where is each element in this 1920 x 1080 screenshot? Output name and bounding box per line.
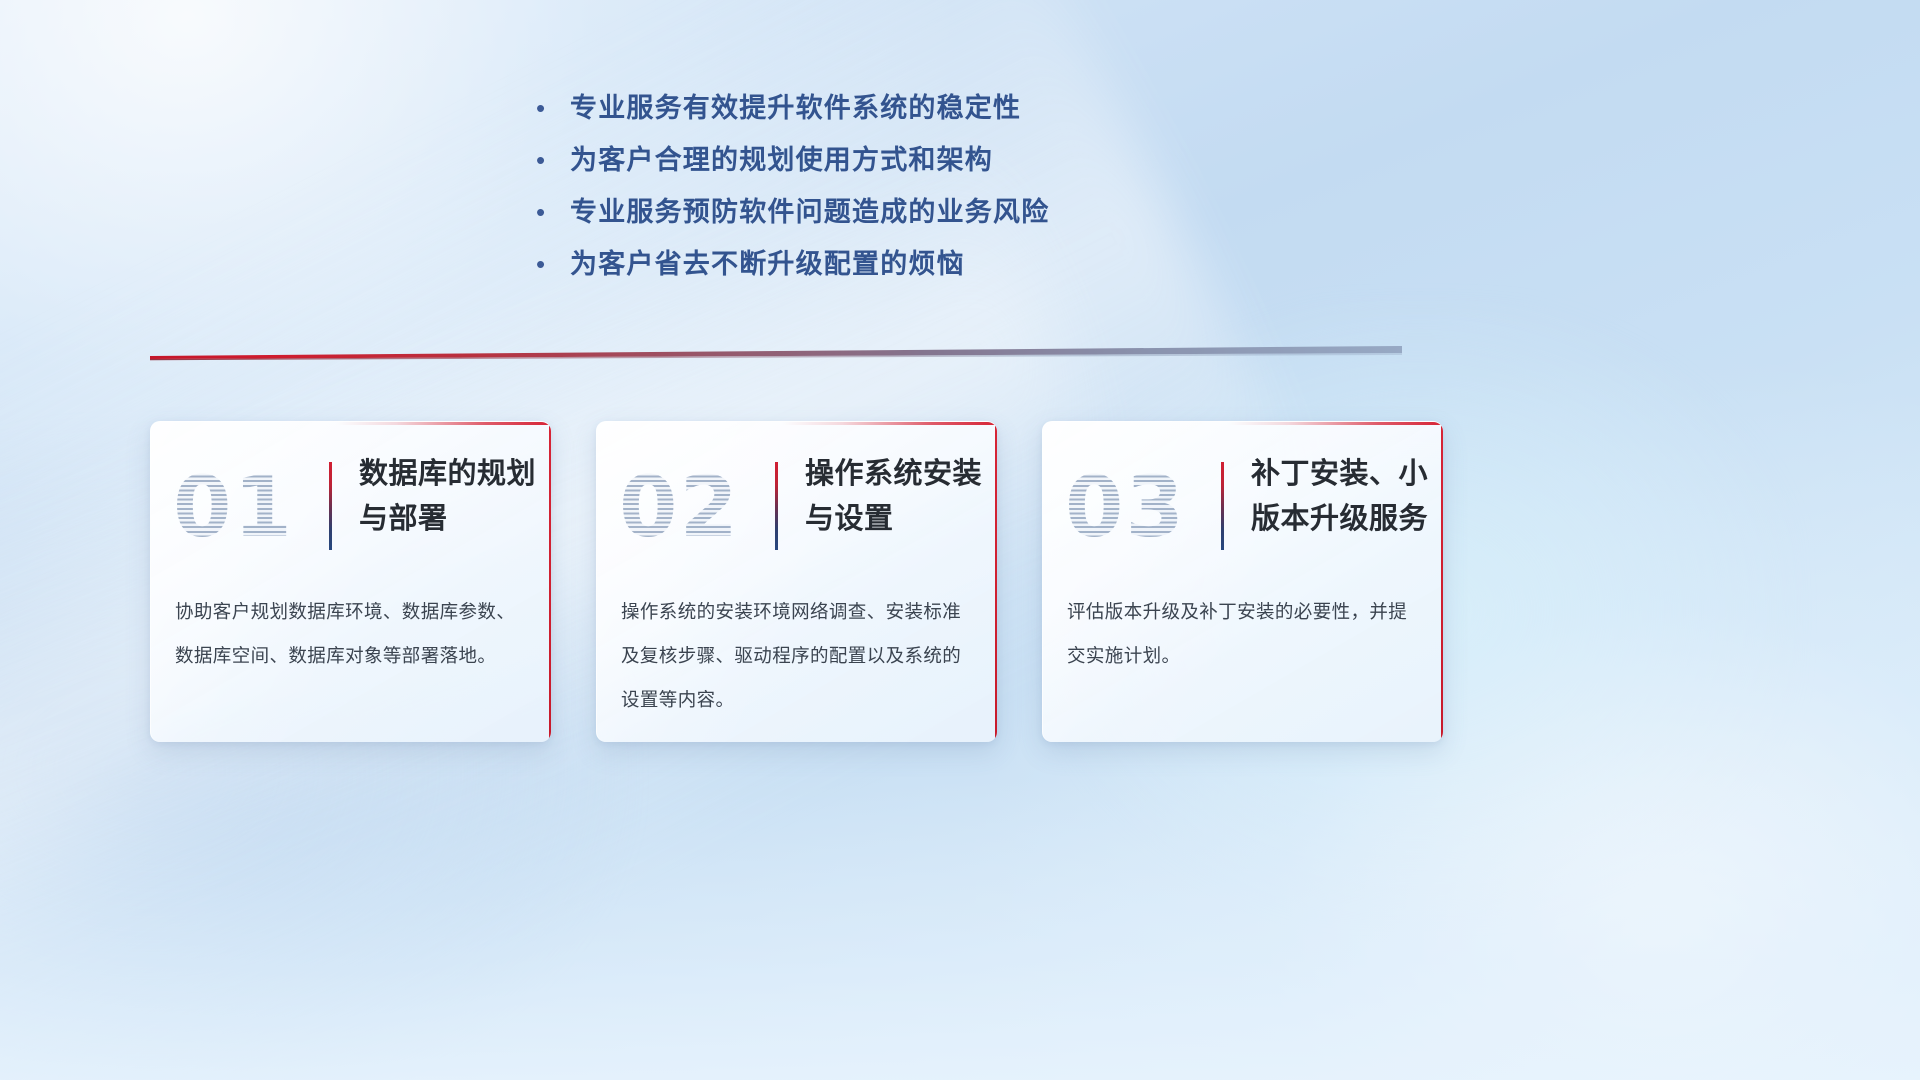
card-title: 数据库的规划与部署 xyxy=(359,452,539,542)
card-divider-bar xyxy=(329,462,332,550)
service-card-01[interactable]: 01 01 数据库的规划与部署 协助客户规划数据库环境、数据库参数、数据库空间、… xyxy=(150,421,551,742)
card-header: 03 03 补丁安装、小版本升级服务 xyxy=(1043,444,1443,572)
bullet-marker-icon: • xyxy=(536,147,570,173)
card-description: 评估版本升级及补丁安装的必要性，并提交实施计划。 xyxy=(1067,590,1419,678)
card-title: 补丁安装、小版本升级服务 xyxy=(1251,452,1431,542)
bullet-marker-icon: • xyxy=(536,199,570,225)
card-number-watermark: 02 xyxy=(619,448,740,566)
card-description: 操作系统的安装环境网络调查、安装标准及复核步骤、驱动程序的配置以及系统的设置等内… xyxy=(621,590,973,722)
card-top-accent-fade xyxy=(1228,422,1443,425)
benefits-bullet-list: • 专业服务有效提升软件系统的稳定性 • 为客户合理的规划使用方式和架构 • 专… xyxy=(536,86,1396,294)
card-header: 01 01 数据库的规划与部署 xyxy=(151,444,551,572)
card-title: 操作系统安装与设置 xyxy=(805,452,985,542)
bullet-item-4: • 为客户省去不断升级配置的烦恼 xyxy=(536,242,1396,294)
bullet-item-4-label: 为客户省去不断升级配置的烦恼 xyxy=(570,242,965,281)
service-card-03[interactable]: 03 03 补丁安装、小版本升级服务 评估版本升级及补丁安装的必要性，并提交实施… xyxy=(1042,421,1443,742)
bullet-item-3-label: 专业服务预防软件问题造成的业务风险 xyxy=(570,190,1049,229)
section-divider xyxy=(150,344,1402,366)
background-bottom-fade xyxy=(0,780,1920,1080)
card-divider-bar xyxy=(1221,462,1224,550)
bullet-marker-icon: • xyxy=(536,95,570,121)
card-header: 02 02 操作系统安装与设置 xyxy=(597,444,997,572)
card-description: 协助客户规划数据库环境、数据库参数、数据库空间、数据库对象等部署落地。 xyxy=(175,590,527,678)
card-divider-bar xyxy=(775,462,778,550)
bullet-item-2: • 为客户合理的规划使用方式和架构 xyxy=(536,138,1396,190)
card-top-accent-fade xyxy=(782,422,997,425)
service-card-02[interactable]: 02 02 操作系统安装与设置 操作系统的安装环境网络调查、安装标准及复核步骤、… xyxy=(596,421,997,742)
bullet-item-2-label: 为客户合理的规划使用方式和架构 xyxy=(570,138,993,177)
bullet-marker-icon: • xyxy=(536,251,570,277)
card-number-watermark: 03 xyxy=(1065,448,1186,566)
service-cards-row: 01 01 数据库的规划与部署 协助客户规划数据库环境、数据库参数、数据库空间、… xyxy=(150,421,1443,742)
card-number-watermark: 01 xyxy=(173,448,294,566)
bullet-item-1-label: 专业服务有效提升软件系统的稳定性 xyxy=(570,86,1021,125)
bullet-item-3: • 专业服务预防软件问题造成的业务风险 xyxy=(536,190,1396,242)
divider-wedge-icon xyxy=(150,344,1402,366)
bullet-item-1: • 专业服务有效提升软件系统的稳定性 xyxy=(536,86,1396,138)
card-top-accent-fade xyxy=(336,422,551,425)
